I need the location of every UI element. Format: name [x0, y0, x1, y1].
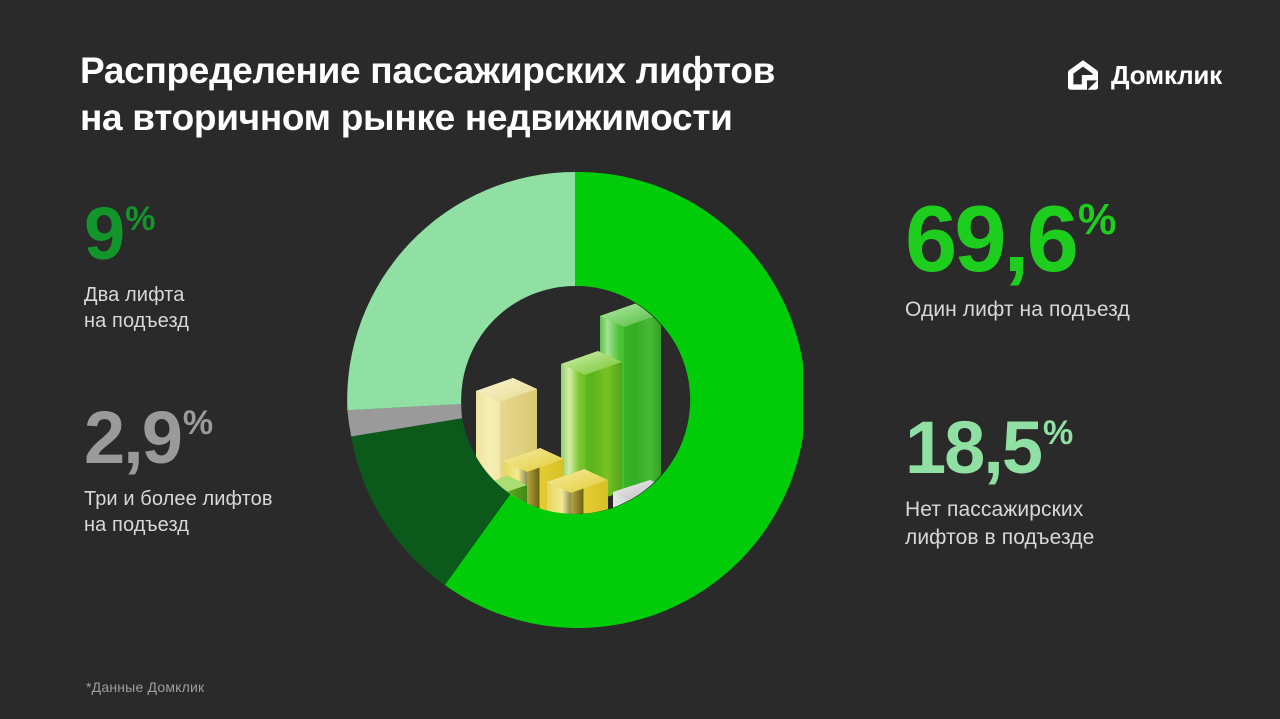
stat-no-lifts-number: 18,5 [905, 414, 1041, 482]
stat-one-lift-caption: Один лифт на подъезд [905, 296, 1130, 324]
percent-sign: % [125, 202, 154, 236]
percent-sign: % [1078, 199, 1115, 242]
stat-three-lifts: 2,9 % Три и более лифтов на подъезд [84, 404, 273, 539]
stat-no-lifts-caption: Нет пассажирских лифтов в подъезде [905, 496, 1094, 551]
infographic-canvas: Распределение пассажирских лифтов на вто… [0, 0, 1280, 719]
stat-one-lift-number: 69,6 [905, 196, 1076, 282]
stat-one-lift-value: 69,6 % [905, 196, 1130, 282]
bar-illustration [461, 286, 689, 514]
percent-sign: % [183, 406, 212, 440]
stat-two-lifts-number: 9 [84, 200, 123, 268]
stat-no-lifts: 18,5 % Нет пассажирских лифтов в подъезд… [905, 414, 1094, 552]
stat-two-lifts: 9 % Два лифта на подъезд [84, 200, 189, 335]
brand-name: Домклик [1111, 60, 1222, 91]
stat-three-lifts-value: 2,9 % [84, 404, 273, 472]
stat-three-lifts-number: 2,9 [84, 404, 181, 472]
percent-sign: % [1043, 416, 1072, 450]
stat-one-lift: 69,6 % Один лифт на подъезд [905, 196, 1130, 324]
stat-two-lifts-value: 9 % [84, 200, 189, 268]
footnote: *Данные Домклик [86, 679, 204, 695]
stat-no-lifts-value: 18,5 % [905, 414, 1094, 482]
stat-two-lifts-caption: Два лифта на подъезд [84, 282, 189, 335]
house-cursor-logo-icon [1066, 58, 1100, 92]
brand-logo: Домклик [1066, 58, 1222, 92]
donut-chart [347, 172, 803, 628]
page-title: Распределение пассажирских лифтов на вто… [80, 47, 920, 142]
stat-three-lifts-caption: Три и более лифтов на подъезд [84, 486, 273, 539]
